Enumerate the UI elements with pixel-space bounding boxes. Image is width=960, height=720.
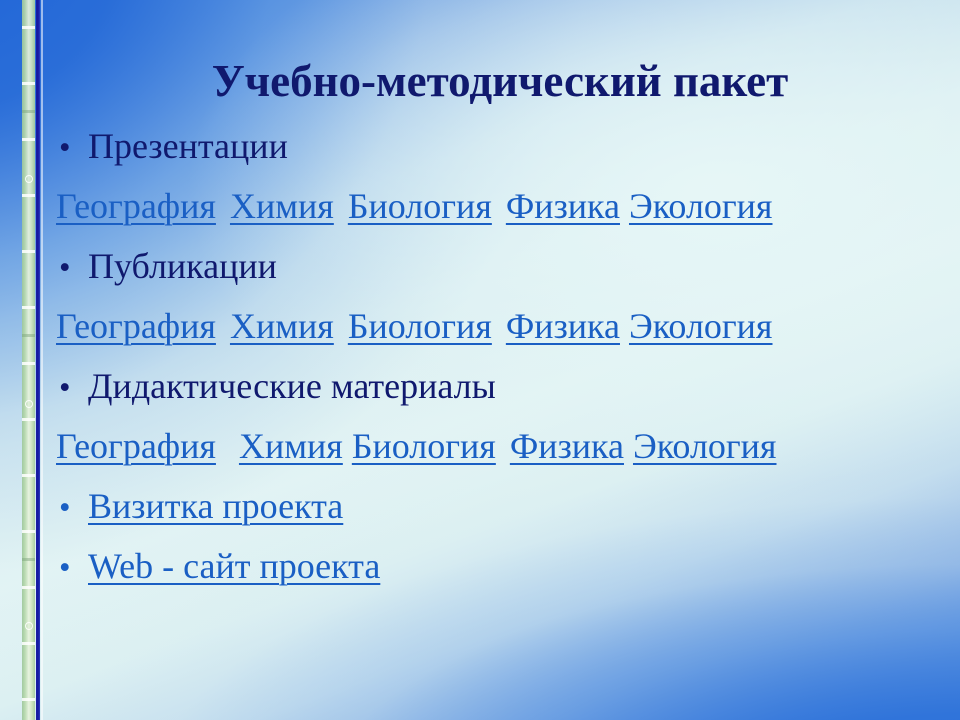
list-item-project-card[interactable]: • Визитка проекта (50, 488, 955, 548)
link-ecology[interactable]: Экология (629, 306, 773, 346)
slide-canvas: Учебно-методический пакет • Презентации … (0, 0, 960, 720)
link-physics[interactable]: Физика (506, 306, 620, 346)
link-biology[interactable]: Биология (348, 306, 492, 346)
list-item: • Презентации (50, 128, 955, 188)
link-biology[interactable]: Биология (352, 426, 496, 466)
link-row-presentations: ГеографияХимия Биология Физика Экология (50, 188, 955, 248)
bullet-icon: • (50, 492, 88, 525)
link-biology[interactable]: Биология (348, 186, 492, 226)
link-physics[interactable]: Физика (510, 426, 624, 466)
bullet-icon: • (50, 552, 88, 585)
link-group: ГеографияХимия Биология Физика Экология (50, 308, 773, 344)
slide-content: Учебно-методический пакет • Презентации … (0, 0, 960, 720)
bullet-icon: • (50, 252, 88, 285)
list-item-project-website[interactable]: • Web - сайт проекта (50, 548, 955, 608)
bullet-icon: • (50, 132, 88, 165)
link-chemistry[interactable]: Химия (230, 306, 334, 346)
link-physics[interactable]: Физика (506, 186, 620, 226)
link-geography[interactable]: География (56, 306, 216, 346)
link-group: ГеографияХимия Биология Физика Экология (50, 188, 773, 224)
link-ecology[interactable]: Экология (633, 426, 777, 466)
link-geography[interactable]: География (56, 426, 216, 466)
link-ecology[interactable]: Экология (629, 186, 773, 226)
content-list: • Презентации ГеографияХимия Биология Фи… (50, 128, 955, 608)
list-item-label: Публикации (88, 248, 277, 284)
list-item-label: Презентации (88, 128, 288, 164)
page-title: Учебно-методический пакет (60, 58, 940, 105)
list-item: • Публикации (50, 248, 955, 308)
link-chemistry[interactable]: Химия (239, 426, 343, 466)
link-project-website[interactable]: Web - сайт проекта (88, 548, 380, 584)
link-geography[interactable]: География (56, 186, 216, 226)
link-project-card[interactable]: Визитка проекта (88, 488, 343, 524)
link-row-didactic-materials: География Химия Биология Физика Экология (50, 428, 955, 488)
list-item-label: Дидактические материалы (88, 368, 496, 404)
link-group: География Химия Биология Физика Экология (50, 428, 777, 464)
list-item: • Дидактические материалы (50, 368, 955, 428)
link-chemistry[interactable]: Химия (230, 186, 334, 226)
bullet-icon: • (50, 372, 88, 405)
link-row-publications: ГеографияХимия Биология Физика Экология (50, 308, 955, 368)
